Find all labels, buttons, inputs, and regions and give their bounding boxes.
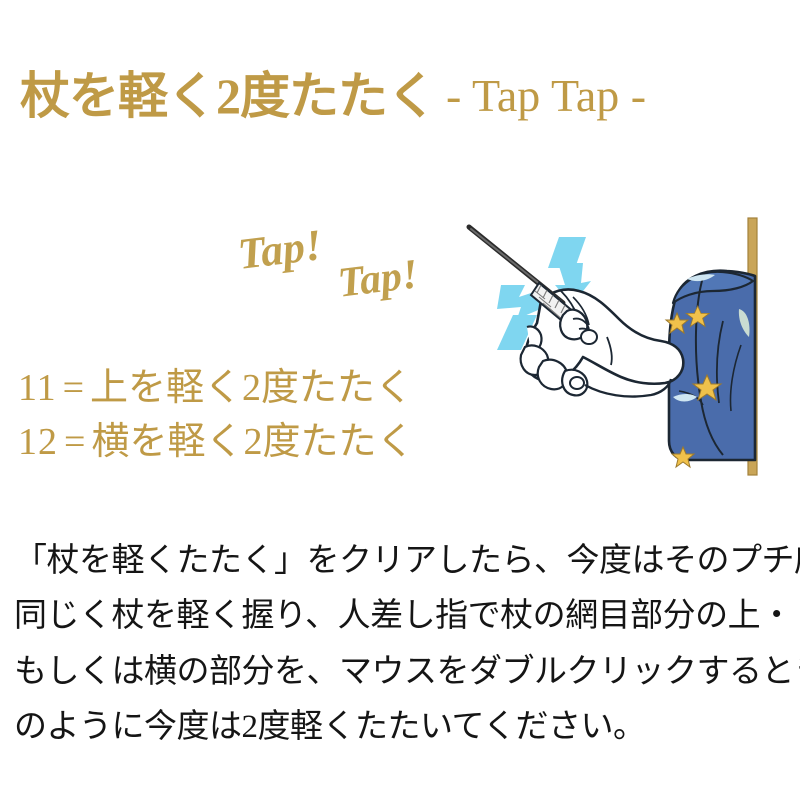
legend-number: 11 <box>18 367 57 409</box>
legend-equals: = <box>63 367 84 409</box>
legend-text: 横を軽く2度たたく <box>91 421 414 463</box>
legend-row: 12=横を軽く2度たたく <box>18 416 488 470</box>
tap-label-first: Tap! <box>236 223 325 277</box>
legend-equals: = <box>64 421 85 463</box>
page-title-english: - Tap Tap - <box>446 73 646 119</box>
body-line: 「杖を軽くたたく」をクリアしたら、今度はそのプチ応用。 <box>14 534 794 589</box>
body-line: 同じく杖を軽く握り、人差し指で杖の網目部分の上・ <box>14 589 794 644</box>
hand-holding-wand-illustration <box>455 215 800 505</box>
body-line: もしくは横の部分を、マウスをダブルクリックするとき <box>14 645 794 700</box>
tap-label-second: Tap! <box>336 253 421 304</box>
legend-text: 上を軽く2度たたく <box>90 367 413 409</box>
legend-row: 11=上を軽く2度たたく <box>18 362 488 416</box>
body-line: のように今度は2度軽くたたいてください。 <box>14 700 794 755</box>
legend-list: 11=上を軽く2度たたく 12=横を軽く2度たたく <box>18 362 488 470</box>
body-paragraph: 「杖を軽くたたく」をクリアしたら、今度はそのプチ応用。 同じく杖を軽く握り、人差… <box>14 534 794 756</box>
legend-number: 12 <box>18 421 58 463</box>
page-title-japanese: 杖を軽く2度たたく <box>20 71 436 121</box>
page-title: 杖を軽く2度たたく - Tap Tap - <box>0 58 800 134</box>
